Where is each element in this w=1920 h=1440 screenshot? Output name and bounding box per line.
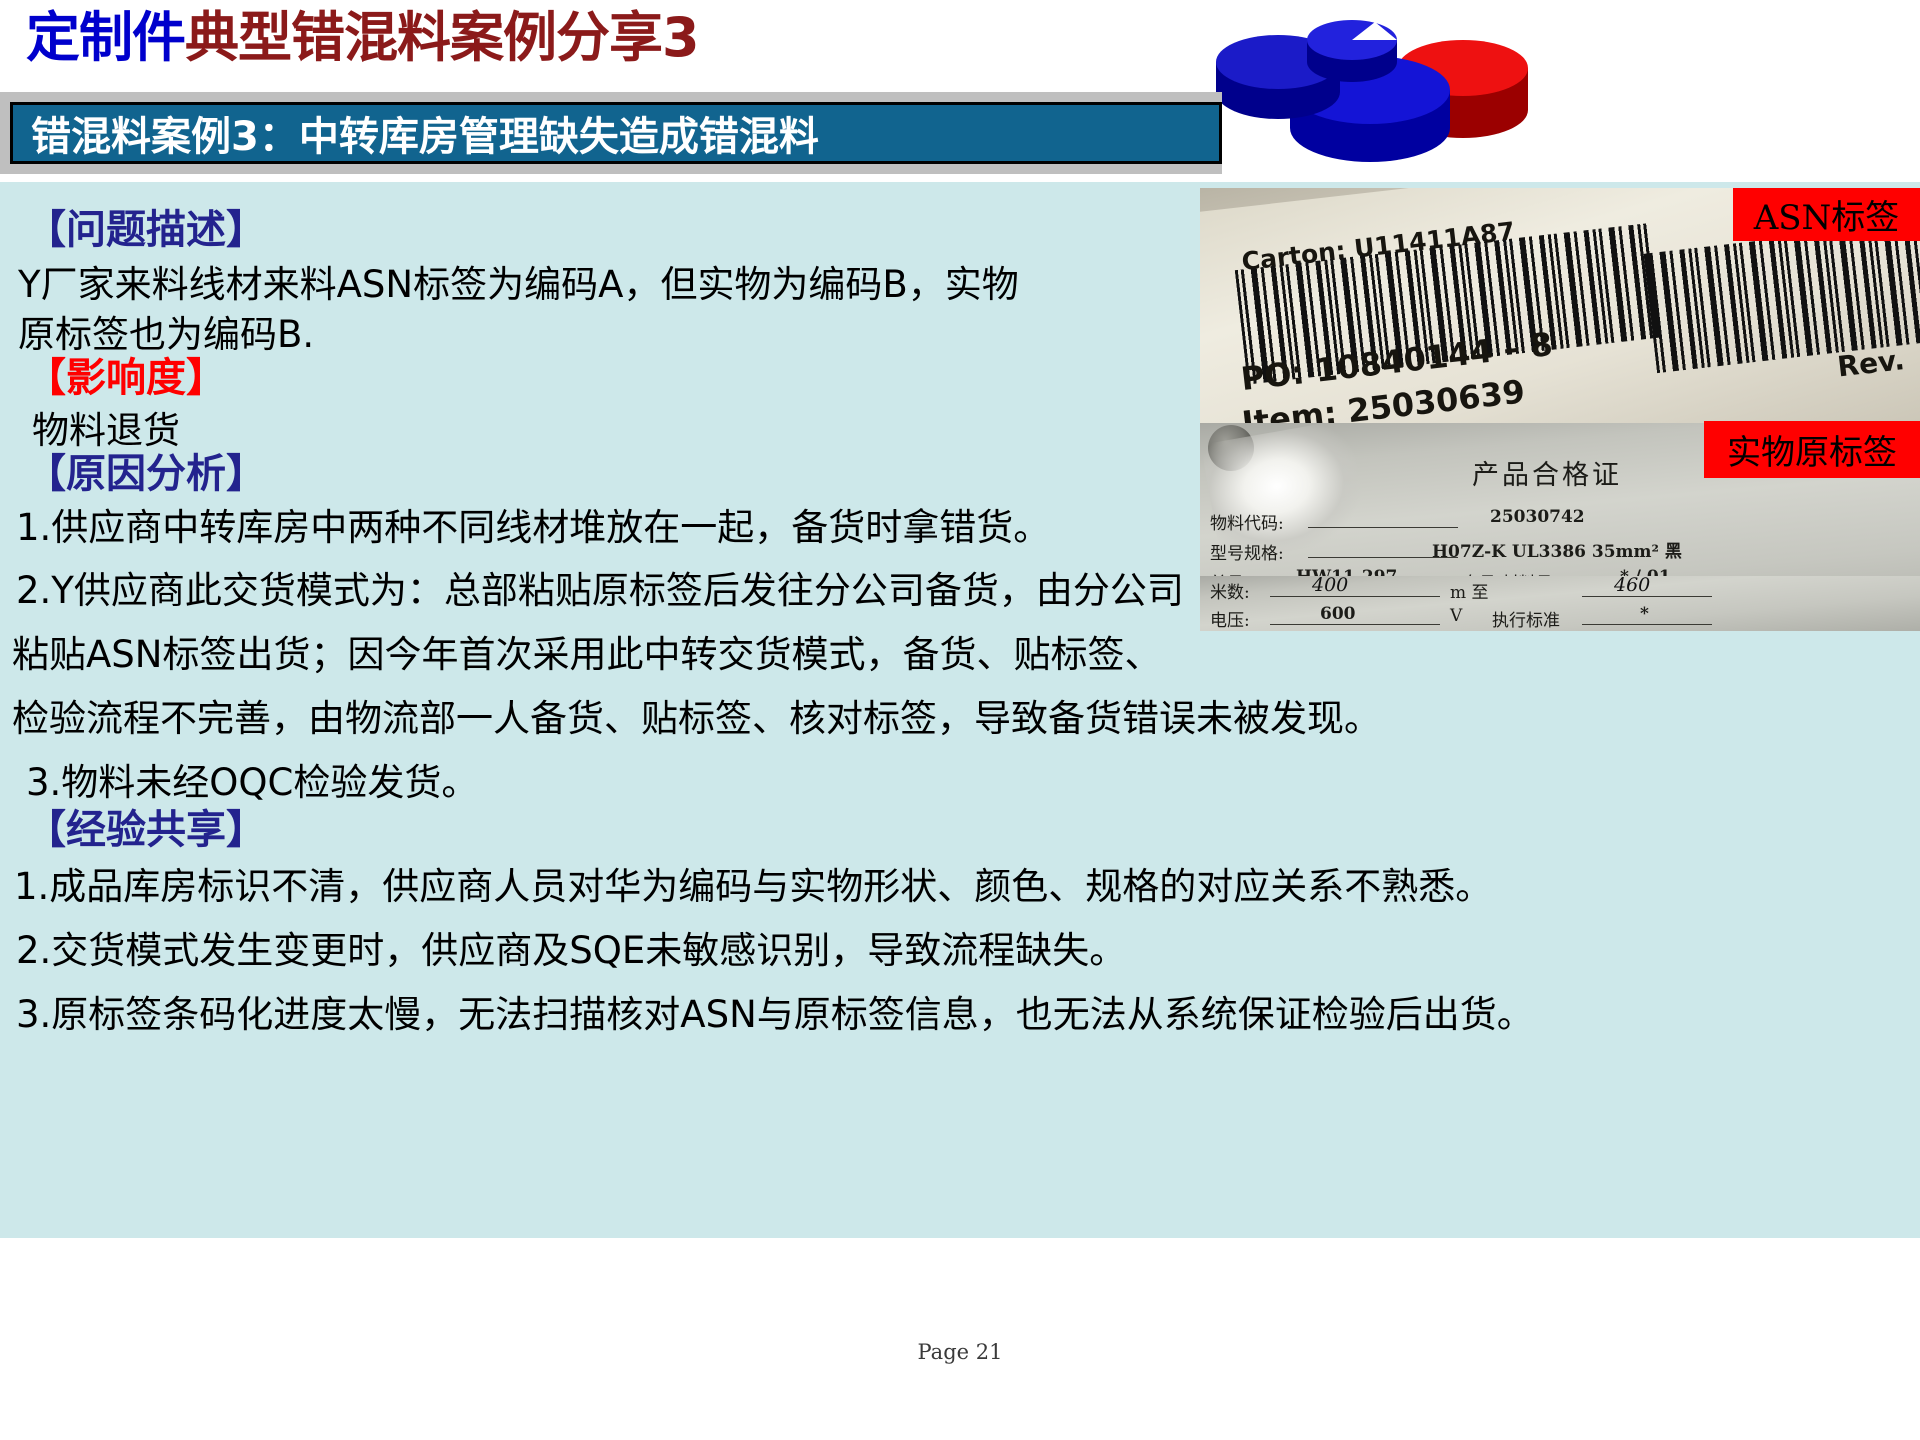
row-4-value: 400 [1312, 576, 1348, 596]
slide-root: 定制件典型错混料案例分享3 错混料案例3：中转库房管理缺失造成错混料 [0, 0, 1920, 1440]
row-5-rule [1270, 624, 1440, 625]
cause-line-2: 2.Y供应商此交货模式为：总部粘贴原标签后发往分公司备货，由分公司 [16, 570, 1184, 611]
cause-line-5: 3.物料未经OQC检验发货。 [26, 762, 478, 803]
page-number: Page 21 [0, 1340, 1920, 1364]
pie-chart-icon [1200, 10, 1550, 180]
title-blue-part: 定制件 [26, 6, 185, 69]
banner-title: 错混料案例3：中转库房管理缺失造成错混料 [13, 104, 819, 162]
original-label-tag: 实物原标签 [1704, 421, 1920, 478]
original-label-surface-lower [1200, 576, 1920, 631]
row-4-rule [1270, 596, 1440, 597]
page-title: 定制件典型错混料案例分享3 [26, 10, 699, 67]
cause-line-1: 1.供应商中转库房中两种不同线材堆放在一起，备货时拿错货。 [16, 507, 1050, 548]
row-1-label: 型号规格: [1210, 539, 1284, 564]
cause-line-4: 检验流程不完善，由物流部一人备货、贴标签、核对标签，导致备货错误未被发现。 [12, 698, 1381, 739]
row-4-value2: 460 [1614, 576, 1650, 596]
row-0-rule [1308, 527, 1458, 528]
row-5-rule2 [1582, 624, 1712, 625]
row-5-value2: * [1640, 604, 1649, 624]
row-0-value: 25030742 [1490, 507, 1585, 527]
heading-problem: 【问题描述】 [26, 210, 266, 250]
cause-line-3: 粘贴ASN标签出货；因今年首次采用此中转交货模式，备货、贴标签、 [12, 634, 1161, 675]
original-label-photo-lower: 米数: 400 m 至 460 电压: 600 V 执行标准 * [1200, 576, 1920, 631]
row-5-label: 电压: [1210, 606, 1250, 631]
row-4-label: 米数: [1210, 578, 1250, 603]
row-5-value: 600 [1320, 604, 1356, 624]
impact-line-1: 物料退货 [32, 410, 180, 451]
pie-chart-decoration [1200, 10, 1550, 180]
heading-impact: 【影响度】 [26, 358, 226, 398]
row-5-unit: V [1450, 606, 1462, 626]
slide-footer [0, 1238, 1920, 1440]
row-5-label2: 执行标准 [1492, 606, 1560, 631]
row-4-unit: m 至 [1450, 578, 1489, 603]
asn-rev-text: Rev. [1836, 343, 1906, 383]
heading-experience: 【经验共享】 [26, 810, 266, 850]
experience-line-2: 2.交货模式发生变更时，供应商及SQE未敏感识别，导致流程缺失。 [16, 930, 1126, 971]
content-text: 【问题描述】 Y厂家来料线材来料ASN标签为编码A，但实物为编码B，实物 原标签… [0, 182, 1240, 1238]
experience-line-1: 1.成品库房标识不清，供应商人员对华为编码与实物形状、颜色、规格的对应关系不熟悉… [14, 866, 1492, 907]
title-red-part: 典型错混料案例分享3 [185, 6, 699, 69]
case-banner: 错混料案例3：中转库房管理缺失造成错混料 [10, 102, 1222, 164]
problem-line-1: Y厂家来料线材来料ASN标签为编码A，但实物为编码B，实物 [18, 264, 1019, 305]
problem-line-2: 原标签也为编码B. [18, 314, 314, 355]
row-4-rule2 [1582, 596, 1712, 597]
heading-cause: 【原因分析】 [26, 454, 266, 494]
original-label-title: 产品合格证 [1472, 453, 1622, 492]
experience-line-3: 3.原标签条码化进度太慢，无法扫描核对ASN与原标签信息，也无法从系统保证检验后… [16, 994, 1534, 1035]
row-1-value: H07Z-K UL3386 35mm² 黑 [1432, 537, 1682, 562]
asn-label-tag: ASN标签 [1733, 188, 1920, 241]
row-0-label: 物料代码: [1210, 509, 1284, 534]
